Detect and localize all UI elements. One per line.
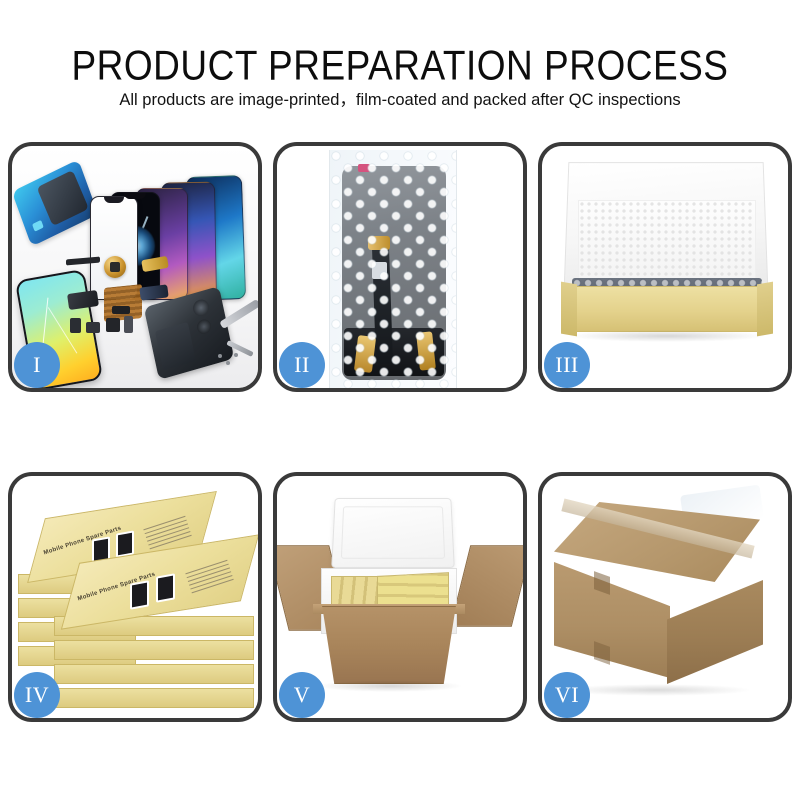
speaker-coil-icon	[104, 256, 126, 278]
carton-front-face	[554, 562, 670, 678]
sealed-carton	[554, 502, 770, 682]
drop-shadow	[562, 684, 752, 696]
bubble-texture	[330, 150, 456, 388]
product-preparation-process-page: PRODUCT PREPARATION PROCESS All products…	[0, 0, 800, 800]
bubble-wrap-bag	[329, 150, 457, 388]
small-part-icon	[106, 318, 120, 332]
carton-body	[313, 606, 465, 684]
yellow-box-tray	[562, 286, 772, 332]
screws-icon	[218, 352, 240, 368]
process-step-panel-6[interactable]: VI	[538, 472, 792, 722]
page-subtitle: All products are image-printed，film-coat…	[0, 92, 800, 109]
copper-keypad-icon	[104, 284, 142, 322]
phone-screen-fan	[90, 160, 258, 300]
process-step-panel-4[interactable]: Mobile Phone Spare Parts Mobile Phone Sp…	[8, 472, 262, 722]
drop-shadow	[317, 680, 463, 692]
box-screen-photo	[130, 580, 149, 609]
small-part-icon	[112, 306, 130, 314]
step-badge-5: V	[279, 672, 325, 718]
styrofoam-lid	[331, 498, 455, 568]
process-step-grid: I II	[8, 142, 792, 732]
small-part-icon	[86, 322, 100, 333]
white-foam-sheet	[578, 200, 756, 286]
box-screen-photo	[156, 573, 175, 602]
step-badge-3: III	[544, 342, 590, 388]
box-stack: Mobile Phone Spare Parts Mobile Phone Sp…	[18, 500, 254, 704]
small-part-icon	[124, 316, 133, 333]
process-step-panel-3[interactable]: III	[538, 142, 792, 392]
process-step-panel-1[interactable]: I	[8, 142, 262, 392]
small-part-icon	[70, 318, 81, 333]
step-badge-6: VI	[544, 672, 590, 718]
step-badge-2: II	[279, 342, 325, 388]
step-badge-4: IV	[14, 672, 60, 718]
drop-shadow	[568, 330, 766, 342]
step-badge-1: I	[14, 342, 60, 388]
process-step-panel-5[interactable]: V	[273, 472, 527, 722]
page-title: PRODUCT PREPARATION PROCESS	[0, 45, 800, 86]
carton-side-face	[667, 580, 763, 684]
process-step-panel-2[interactable]: II	[273, 142, 527, 392]
